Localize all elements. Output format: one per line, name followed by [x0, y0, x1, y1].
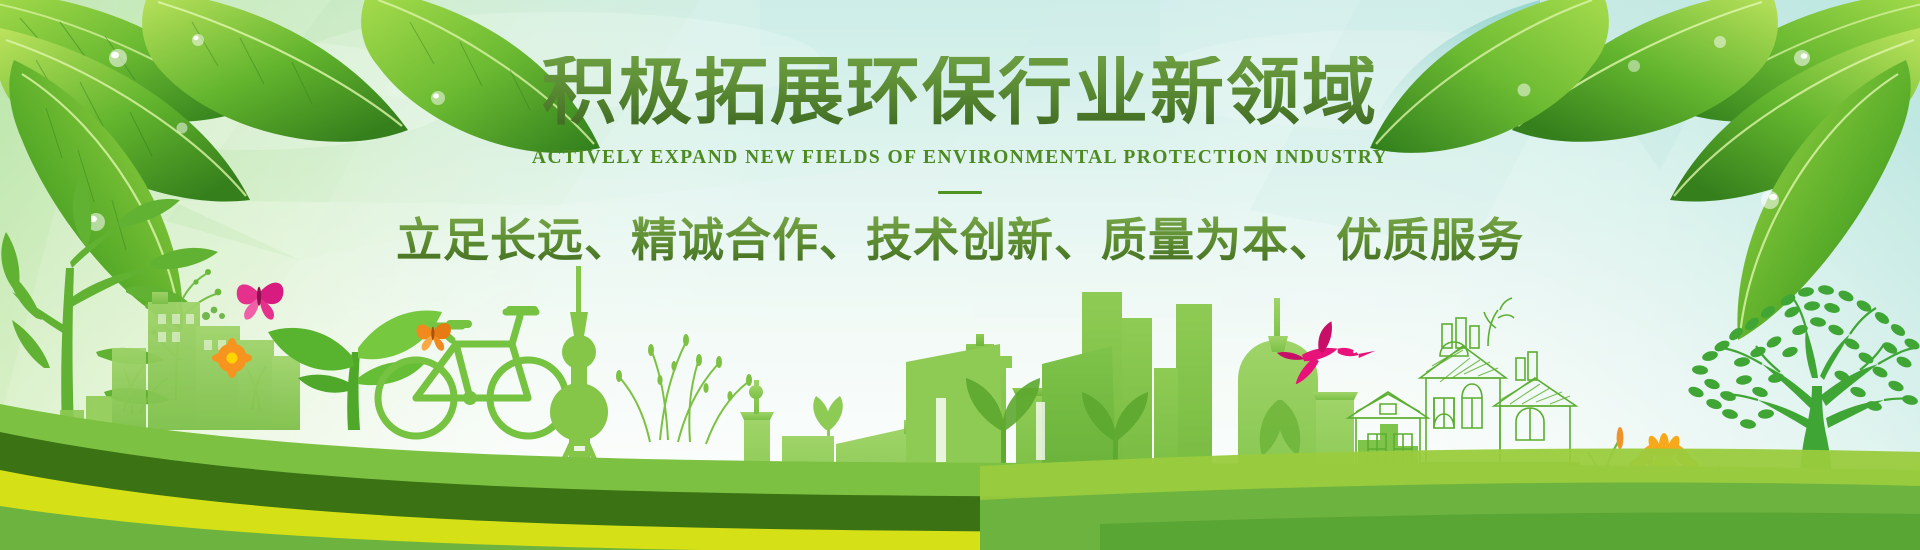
bottom-wave-bands	[0, 0, 1920, 550]
eco-banner: 积极拓展环保行业新领域 ACTIVELY EXPAND NEW FIELDS O…	[0, 0, 1920, 550]
